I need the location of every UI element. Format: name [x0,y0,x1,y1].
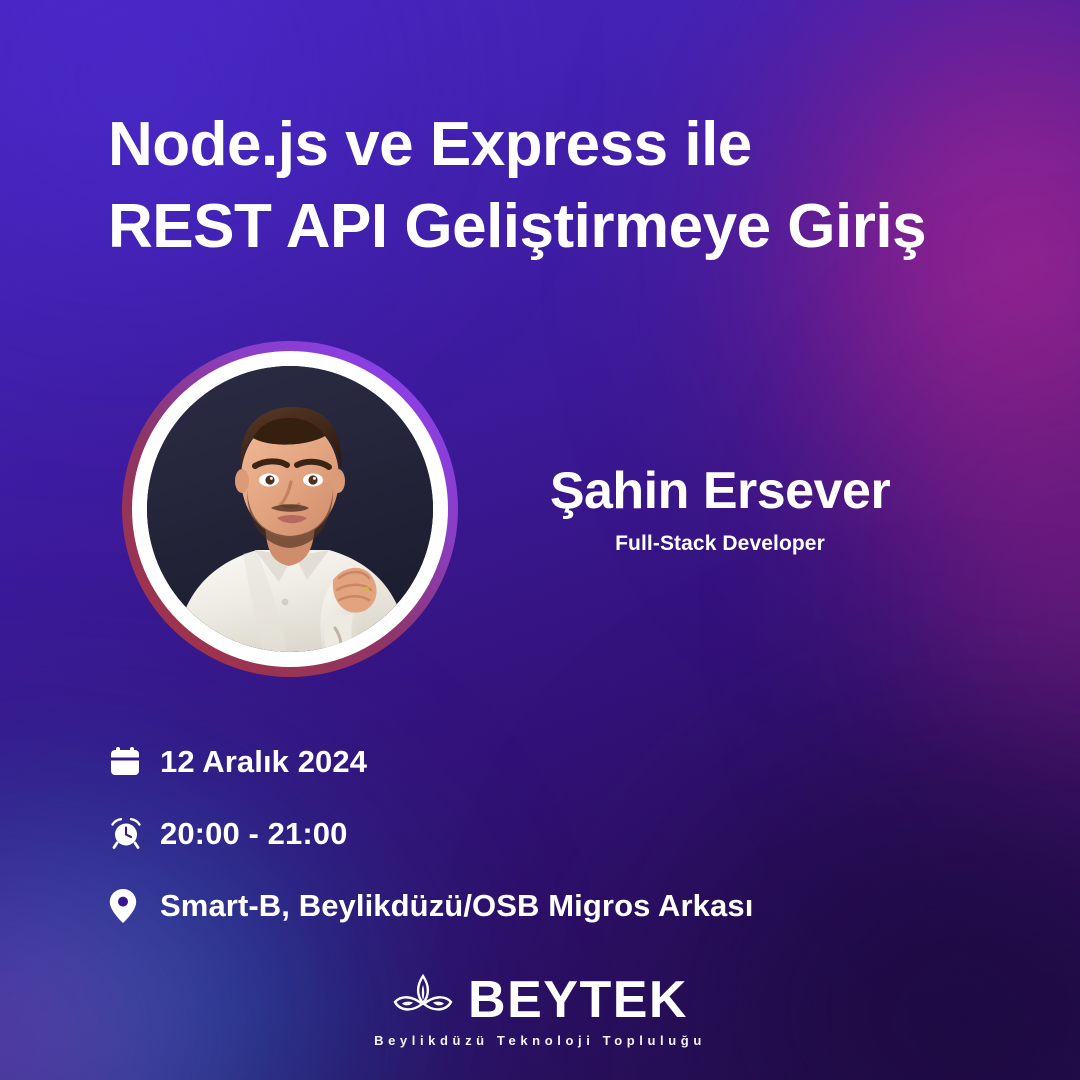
detail-row-time: 20:00 - 21:00 [108,798,928,870]
event-title-line-2: REST API Geliştirmeye Giriş [108,186,988,268]
brand-tagline: Beylikdüzü Teknoloji Topluluğu [374,1033,706,1048]
calendar-icon [108,738,160,786]
location-pin-icon [108,882,160,930]
event-details: 12 Aralık 2024 20:00 - 21:00 [108,726,928,942]
alarm-clock-icon [108,810,160,858]
speaker-portrait-icon [147,366,433,652]
event-poster: Node.js ve Express ile REST API Geliştir… [0,0,1080,1080]
brand-logo: BEYTEK Beylikdüzü Teknoloji Topluluğu [0,973,1080,1048]
speaker-avatar-ring [122,341,458,677]
brand-logo-main: BEYTEK [392,973,688,1027]
event-title-line-1: Node.js ve Express ile [108,104,988,186]
detail-text-date: 12 Aralık 2024 [160,744,367,780]
speaker-name: Şahin Ersever [470,462,970,520]
detail-text-time: 20:00 - 21:00 [160,816,347,852]
avatar [147,366,433,652]
lotus-leaf-icon [392,973,454,1027]
detail-text-location: Smart-B, Beylikdüzü/OSB Migros Arkası [160,888,753,924]
speaker-role: Full-Stack Developer [470,532,970,556]
detail-row-location: Smart-B, Beylikdüzü/OSB Migros Arkası [108,870,928,942]
brand-wordmark: BEYTEK [468,974,688,1026]
event-title: Node.js ve Express ile REST API Geliştir… [108,104,988,268]
detail-row-date: 12 Aralık 2024 [108,726,928,798]
speaker-info: Şahin Ersever Full-Stack Developer [470,462,970,556]
